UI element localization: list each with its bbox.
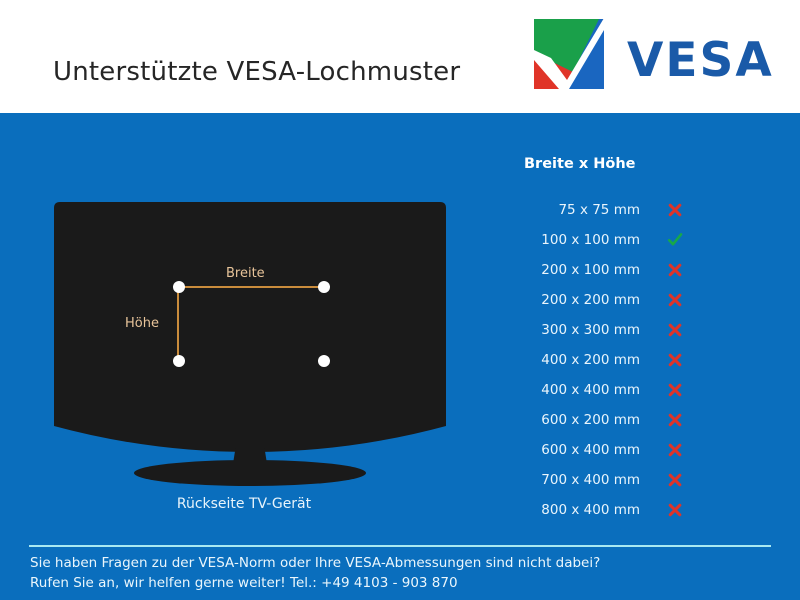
pattern-size-label: 700 x 400 mm xyxy=(492,472,662,488)
vesa-checkmark-logo-icon xyxy=(531,17,607,91)
mount-hole-bottom-right xyxy=(318,355,330,367)
tv-diagram-caption: Rückseite TV-Gerät xyxy=(0,496,488,512)
table-row: 400 x 200 mm xyxy=(492,345,708,375)
cross-icon xyxy=(662,322,688,338)
vesa-info-page: Unterstützte VESA-Lochmuster VESA xyxy=(0,0,800,600)
pattern-size-label: 75 x 75 mm xyxy=(492,202,662,218)
pattern-size-label: 600 x 400 mm xyxy=(492,442,662,458)
footer-divider xyxy=(29,545,771,547)
mount-hole-top-left xyxy=(173,281,185,293)
pattern-size-label: 800 x 400 mm xyxy=(492,502,662,518)
cross-icon xyxy=(662,352,688,368)
header-band: Unterstützte VESA-Lochmuster VESA xyxy=(0,0,800,113)
pattern-size-label: 400 x 200 mm xyxy=(492,352,662,368)
pattern-size-label: 200 x 100 mm xyxy=(492,262,662,278)
cross-icon xyxy=(662,472,688,488)
page-title: Unterstützte VESA-Lochmuster xyxy=(53,57,460,87)
table-row: 300 x 300 mm xyxy=(492,315,708,345)
cross-icon xyxy=(662,262,688,278)
table-row: 400 x 400 mm xyxy=(492,375,708,405)
cross-icon xyxy=(662,442,688,458)
footer-contact-text: Sie haben Fragen zu der VESA-Norm oder I… xyxy=(30,553,775,593)
table-rows-container: 75 x 75 mm100 x 100 mm200 x 100 mm200 x … xyxy=(492,195,708,525)
footer-line-1: Sie haben Fragen zu der VESA-Norm oder I… xyxy=(30,553,775,573)
table-row: 600 x 200 mm xyxy=(492,405,708,435)
tv-back-diagram: Breite Höhe xyxy=(40,190,460,490)
height-label: Höhe xyxy=(125,316,159,331)
mount-hole-bottom-left xyxy=(173,355,185,367)
pattern-size-label: 400 x 400 mm xyxy=(492,382,662,398)
table-row: 200 x 100 mm xyxy=(492,255,708,285)
pattern-size-label: 100 x 100 mm xyxy=(492,232,662,248)
cross-icon xyxy=(662,502,688,518)
table-row: 100 x 100 mm xyxy=(492,225,708,255)
table-row: 75 x 75 mm xyxy=(492,195,708,225)
vesa-wordmark: VESA xyxy=(627,37,774,84)
footer-line-2: Rufen Sie an, wir helfen gerne weiter! T… xyxy=(30,573,775,593)
table-row: 800 x 400 mm xyxy=(492,495,708,525)
cross-icon xyxy=(662,202,688,218)
cross-icon xyxy=(662,412,688,428)
pattern-size-label: 200 x 200 mm xyxy=(492,292,662,308)
table-column-header: Breite x Höhe xyxy=(492,156,708,172)
pattern-size-label: 600 x 200 mm xyxy=(492,412,662,428)
cross-icon xyxy=(662,382,688,398)
table-row: 200 x 200 mm xyxy=(492,285,708,315)
vesa-logo: VESA xyxy=(531,17,781,93)
table-row: 700 x 400 mm xyxy=(492,465,708,495)
tv-stand-base xyxy=(134,460,366,486)
mount-hole-top-right xyxy=(318,281,330,293)
cross-icon xyxy=(662,292,688,308)
width-label: Breite xyxy=(226,266,265,281)
vesa-pattern-table: Breite x Höhe 75 x 75 mm100 x 100 mm200 … xyxy=(492,156,708,525)
table-row: 600 x 400 mm xyxy=(492,435,708,465)
pattern-size-label: 300 x 300 mm xyxy=(492,322,662,338)
tv-body-shape xyxy=(54,202,446,452)
check-icon xyxy=(662,232,688,248)
